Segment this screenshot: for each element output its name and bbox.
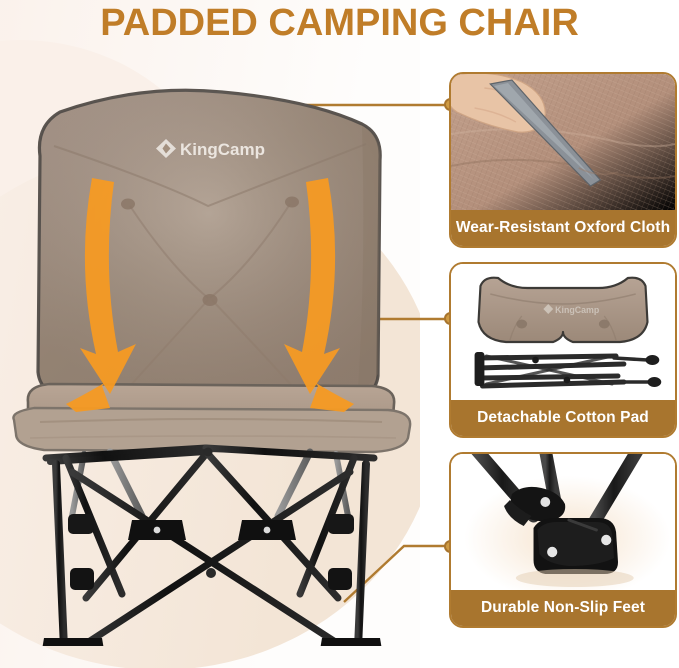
chair-seat (13, 384, 410, 452)
chair-frame (40, 448, 384, 647)
feature-photo-cotton-pad: KingCamp (451, 264, 675, 400)
non-slip-foot-back-right (238, 520, 296, 540)
page-title: PADDED CAMPING CHAIR (0, 2, 679, 45)
infographic-page: PADDED CAMPING CHAIR (0, 0, 679, 668)
svg-text:KingCamp: KingCamp (555, 305, 600, 315)
non-slip-foot-front-right (318, 638, 384, 646)
product-chair-image: KingCamp (10, 86, 420, 646)
feature-card-wear-resistant-oxford-cloth[interactable]: Wear-Resistant Oxford Cloth (449, 72, 677, 248)
non-slip-foot-front-left (40, 638, 106, 646)
feature-card-detachable-cotton-pad[interactable]: KingCamp Detach (449, 262, 677, 438)
feature-photo-oxford-cloth (451, 74, 675, 210)
non-slip-foot-back-left (128, 520, 186, 540)
svg-text:KingCamp: KingCamp (180, 140, 265, 159)
feature-label-non-slip-feet: Durable Non-Slip Feet (451, 590, 675, 626)
feature-label-cotton-pad: Detachable Cotton Pad (451, 400, 675, 436)
feature-photo-non-slip-feet (451, 454, 675, 590)
feature-label-oxford-cloth: Wear-Resistant Oxford Cloth (451, 210, 675, 246)
feature-card-durable-non-slip-feet[interactable]: Durable Non-Slip Feet (449, 452, 677, 628)
